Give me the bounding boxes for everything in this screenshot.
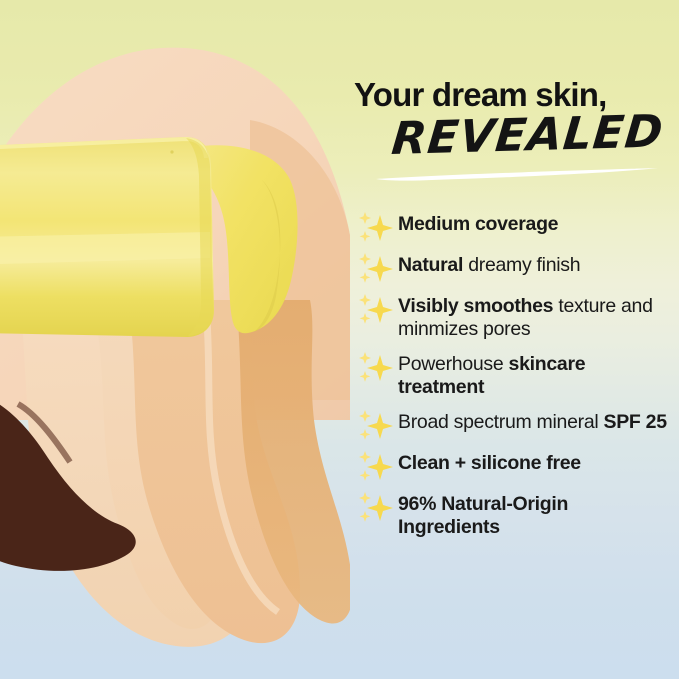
product-marketing-poster: Your dream skin, REVEALED Medium coverag… bbox=[0, 0, 679, 679]
sparkle-icon bbox=[356, 450, 394, 484]
sparkle-icon bbox=[356, 409, 394, 443]
feature-bold-lead: Natural bbox=[398, 254, 463, 276]
list-item: Powerhouse skincare treatment bbox=[354, 352, 674, 399]
marketing-copy: Your dream skin, REVEALED Medium coverag… bbox=[350, 0, 679, 679]
sparkle-icon bbox=[356, 252, 394, 286]
list-item-text: Broad spectrum mineral SPF 25 bbox=[398, 410, 667, 434]
list-item: 96% Natural-Origin Ingredients bbox=[354, 492, 674, 539]
feature-rest: dreamy finish bbox=[463, 254, 580, 276]
headline-block: Your dream skin, REVEALED bbox=[354, 78, 676, 177]
brush-underline-stroke bbox=[372, 167, 662, 183]
list-item: Natural dreamy finish bbox=[354, 253, 674, 283]
headline-line-2: REVEALED bbox=[390, 107, 666, 162]
tube-seam-dot bbox=[170, 150, 173, 153]
feature-bold-tail: SPF 25 bbox=[604, 411, 667, 433]
sparkle-icon bbox=[356, 491, 394, 525]
feature-list: Medium coverage Natural dreamy finish bbox=[354, 212, 674, 550]
list-item: Broad spectrum mineral SPF 25 bbox=[354, 410, 674, 440]
list-item: Visibly smoothes texture and minmizes po… bbox=[354, 294, 674, 341]
list-item-text: Visibly smoothes texture and minmizes po… bbox=[398, 294, 674, 341]
sparkle-icon bbox=[356, 351, 394, 385]
product-artwork bbox=[0, 0, 350, 679]
feature-bold-lead: Visibly smoothes bbox=[398, 295, 553, 317]
list-item: Medium coverage bbox=[354, 212, 674, 242]
headline-line-2-wrapper: REVEALED bbox=[354, 115, 676, 177]
list-item: Clean + silicone free bbox=[354, 451, 674, 481]
list-item-text: Natural dreamy finish bbox=[398, 253, 580, 277]
sparkle-icon bbox=[356, 211, 394, 245]
feature-bold-lead: Medium coverage bbox=[398, 213, 558, 235]
list-item-text: Clean + silicone free bbox=[398, 451, 581, 475]
feature-rest: Broad spectrum mineral bbox=[398, 411, 604, 433]
list-item-text: Medium coverage bbox=[398, 212, 558, 236]
sparkle-icon bbox=[356, 293, 394, 327]
feature-rest: Powerhouse bbox=[398, 353, 509, 375]
feature-bold-lead: Clean + silicone free bbox=[398, 452, 581, 474]
list-item-text: 96% Natural-Origin Ingredients bbox=[398, 492, 674, 539]
list-item-text: Powerhouse skincare treatment bbox=[398, 352, 674, 399]
feature-bold-lead: 96% Natural-Origin Ingredients bbox=[398, 493, 568, 538]
